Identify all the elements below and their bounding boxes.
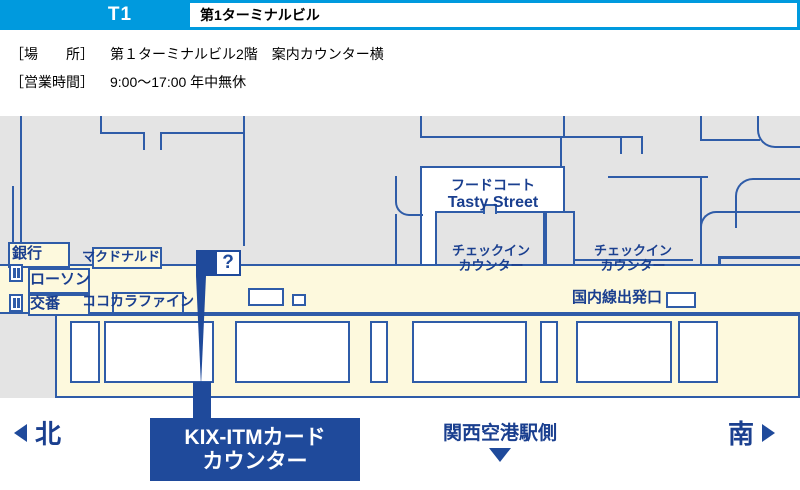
info-row-hours: ［営業時間］ 9:00〜17:00 年中無休 [10, 72, 790, 92]
floor-map: 銀行 ローソン 交番 マクドナルド ココカラファイン フードコート Tasty … [0, 116, 800, 398]
map-wall-7 [243, 116, 245, 246]
gate-room-1 [70, 321, 100, 383]
terminal-name-label: 第1ターミナルビル [190, 5, 320, 25]
gate-room-4 [370, 321, 388, 383]
bank-label: 銀行 [12, 246, 42, 262]
map-wall-4 [143, 132, 145, 150]
map-wall-1 [20, 116, 22, 262]
map-wall-5 [160, 132, 162, 150]
gate-room-8 [678, 321, 718, 383]
checkin-left-label-line1: チェックイン [426, 244, 556, 258]
gate-room-6 [540, 321, 558, 383]
info-marker-swatch [196, 250, 215, 276]
station-side-label: 関西空港駅側 [410, 418, 590, 445]
info-label-location: ［場 所］ [10, 44, 110, 64]
food-court-label-line2: Tasty Street [426, 195, 560, 212]
terminal-header-bar: T1 第1ターミナルビル [0, 0, 800, 30]
map-wall-15 [700, 139, 760, 141]
map-wall-10 [563, 116, 565, 138]
callout-stem [193, 382, 211, 422]
map-wall-14 [700, 116, 702, 141]
cocokara-label: ココカラファイン [82, 294, 194, 309]
restroom-icon-2 [9, 294, 23, 312]
map-right-curve-3 [700, 211, 800, 257]
map-right-curve-1 [757, 116, 800, 148]
direction-south-label: 南 [728, 414, 754, 451]
page-root: T1 第1ターミナルビル ［場 所］ 第１ターミナルビル2階 案内カウンター横 … [0, 0, 800, 490]
info-label-hours: ［営業時間］ [10, 72, 110, 92]
terminal-name-box: 第1ターミナルビル [190, 3, 797, 27]
restroom-figure-b [17, 268, 20, 278]
callout-pointer-needle [196, 276, 206, 386]
map-wall-18 [608, 176, 708, 178]
callout-line-2: カウンター [203, 450, 308, 474]
map-wall-8 [420, 116, 422, 138]
station-side-group: 関西空港駅側 [410, 418, 590, 462]
info-question-icon[interactable]: ? [215, 250, 241, 276]
map-wall-9 [420, 136, 565, 138]
gate-room-5 [412, 321, 527, 383]
facility-info: ［場 所］ 第１ターミナルビル2階 案内カウンター横 ［営業時間］ 9:00〜1… [10, 44, 790, 100]
checkin-right-label-line2: カウンター [568, 259, 698, 273]
kix-itm-card-counter-callout: KIX-ITMカード カウンター [150, 418, 360, 481]
map-block-right-foodcourt [545, 211, 575, 266]
restroom-icon-1 [9, 264, 23, 282]
direction-north-label: 北 [35, 414, 61, 451]
domestic-departures-label: 国内線出発口 [572, 290, 662, 306]
map-legend-bar: 北 KIX-ITMカード カウンター 関西空港駅側 南 [0, 398, 800, 490]
food-court-label-line1: フードコート [426, 178, 560, 193]
restroom-figure-a [13, 268, 16, 278]
info-value-location: 第１ターミナルビル2階 案内カウンター横 [110, 44, 384, 64]
map-wall-19 [395, 214, 397, 266]
map-wall-12 [620, 136, 622, 154]
map-left-foodcourt-wall [395, 176, 423, 216]
map-wall-6 [160, 132, 245, 134]
arrow-left-icon [14, 424, 27, 442]
direction-south: 南 [728, 414, 775, 451]
map-wall-3 [100, 132, 145, 134]
callout-line-1: KIX-ITMカード [184, 426, 325, 450]
terminal-code-label: T1 [60, 0, 180, 30]
info-value-hours: 9:00〜17:00 年中無休 [110, 72, 246, 92]
koban-label: 交番 [30, 296, 60, 312]
gate-room-3 [235, 321, 350, 383]
info-row-location: ［場 所］ 第１ターミナルビル2階 案内カウンター横 [10, 44, 790, 64]
checkin-right-label-line1: チェックイン [568, 244, 698, 258]
checkin-left-label-line2: カウンター [426, 259, 556, 273]
lawson-label: ローソン [30, 272, 90, 288]
gate-room-7 [576, 321, 672, 383]
corridor-room-1 [248, 288, 284, 306]
floor-map-canvas: 銀行 ローソン 交番 マクドナルド ココカラファイン フードコート Tasty … [0, 116, 800, 398]
restroom-figure-c [13, 298, 16, 308]
arrow-right-icon [762, 424, 775, 442]
restroom-figure-d [17, 298, 20, 308]
corridor-room-3 [666, 292, 696, 308]
arrow-down-icon [489, 448, 511, 462]
map-right-heavy [720, 256, 800, 259]
map-wall-11 [563, 136, 643, 138]
direction-north: 北 [14, 414, 61, 451]
map-wall-13 [641, 136, 643, 154]
mcdonalds-label: マクドナルド [82, 250, 160, 264]
corridor-room-2 [292, 294, 306, 306]
